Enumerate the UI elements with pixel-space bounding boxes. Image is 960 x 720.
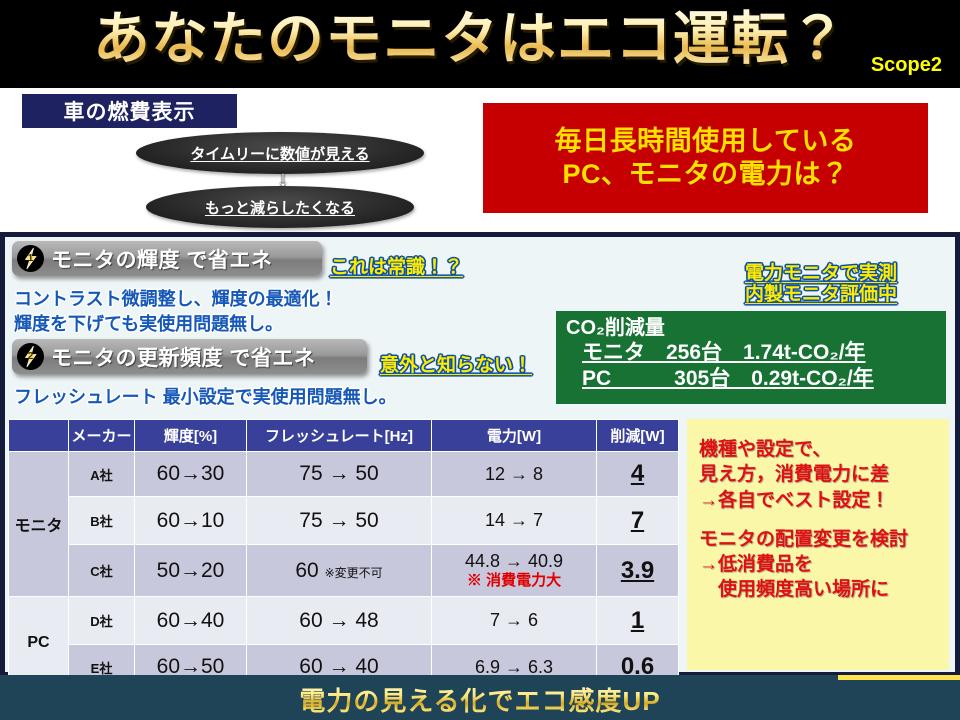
cell-refresh-note: ※変更不可 xyxy=(325,566,383,580)
footer-text: 電力の見える化でエコ感度UP xyxy=(0,680,960,718)
cell-cut: 4 xyxy=(597,452,679,497)
lightning-bolt-icon-1: 1 xyxy=(17,245,44,272)
table-header-row: メーカー 輝度[%] フレッシュレート[Hz] 電力[W] 削減[W] xyxy=(9,420,679,452)
tip-body-1-line-1: コントラスト微調整し、輝度の最適化！ xyxy=(14,285,338,311)
cell-maker: A社 xyxy=(69,452,135,497)
cell-refresh: 75 → 50 xyxy=(247,452,432,497)
title-band: あなたのモニタはエコ運転？ あなたのモニタはエコ運転？ Scope2 xyxy=(0,0,960,88)
co2-box-title: CO₂削減量 xyxy=(566,316,946,340)
tip-banner-brightness-label: モニタの輝度 で省エネ xyxy=(51,244,272,274)
red-box-line-2: PC、モニタの電力は？ xyxy=(562,158,848,191)
cell-power: 44.8 → 40.9※ 消費電力大 xyxy=(432,545,597,597)
table-header-category xyxy=(9,420,69,452)
red-box-line-1: 毎日長時間使用している xyxy=(555,125,857,158)
ellipse-timely-value-label: タイムリーに数値が見える xyxy=(190,143,369,164)
cell-cut: 7 xyxy=(597,497,679,545)
table-row: PC D社 60→40 60 → 48 7 → 6 1 xyxy=(9,597,679,645)
tip-banner-brightness: 1 モニタの輝度 で省エネ xyxy=(12,241,322,276)
cell-power: 7 → 6 xyxy=(432,597,597,645)
conclusion-line-4: モニタの配置変更を検討 xyxy=(699,527,949,552)
table-header-power: 電力[W] xyxy=(432,420,597,452)
table-header-maker: メーカー xyxy=(69,420,135,452)
car-fuel-label: 車の燃費表示 xyxy=(22,94,237,128)
cell-cut: 3.9 xyxy=(597,545,679,597)
cell-refresh: 75 → 50 xyxy=(247,497,432,545)
tip-body-1-line-2: 輝度を下げても実使用問題無し。 xyxy=(14,310,283,336)
scope-tag: Scope2 xyxy=(871,54,942,77)
lightning-bolt-icon-2: 2 xyxy=(17,343,44,370)
cell-brightness: 60→10 xyxy=(135,497,247,545)
cell-maker: D社 xyxy=(69,597,135,645)
tip-banner-refresh-rate-label: モニタの更新頻度 で省エネ xyxy=(51,342,315,372)
cell-refresh-value: 60 xyxy=(295,559,318,582)
co2-row-monitor: モニタ 256台 1.74t-CO₂/年 xyxy=(582,340,946,366)
cell-brightness: 60→40 xyxy=(135,597,247,645)
callout-not-known: 意外と知らない！ xyxy=(380,350,532,377)
ellipse-want-reduce-label: もっと減らしたくなる xyxy=(205,197,355,218)
conclusion-box: 機種や設定で、 見え方，消費電力に差 →各自でベスト設定！ モニタの配置変更を検… xyxy=(687,419,949,670)
panel-edge-right xyxy=(955,232,960,675)
conclusion-line-3: →各自でベスト設定！ xyxy=(699,488,949,513)
co2-row-pc: PC 305台 0.29t-CO₂/年 xyxy=(582,366,946,392)
co2-reduction-box: CO₂削減量 モニタ 256台 1.74t-CO₂/年 PC 305台 0.29… xyxy=(556,311,946,404)
bolt-badge-number-2: 2 xyxy=(17,343,44,370)
callout-common-sense: これは常識！？ xyxy=(330,252,463,279)
page-title: あなたのモニタはエコ運転？ xyxy=(90,2,850,76)
slide-root: あなたのモニタはエコ運転？ あなたのモニタはエコ運転？ Scope2 車の燃費表… xyxy=(0,0,960,720)
conclusion-line-1: 機種や設定で、 xyxy=(699,437,949,462)
tip-body-2-line-1: フレッシュレート 最小設定で実使用問題無し。 xyxy=(14,383,397,409)
power-comparison-table: メーカー 輝度[%] フレッシュレート[Hz] 電力[W] 削減[W] モニタ … xyxy=(8,419,679,690)
table-header-refresh: フレッシュレート[Hz] xyxy=(247,420,432,452)
table-row: B社 60→10 75 → 50 14 → 7 7 xyxy=(9,497,679,545)
cell-power-value: 44.8 → 40.9 xyxy=(465,551,563,571)
tip-banner-refresh-rate: 2 モニタの更新頻度 で省エネ xyxy=(12,339,367,374)
conclusion-line-2: 見え方，消費電力に差 xyxy=(699,462,949,487)
cell-maker: B社 xyxy=(69,497,135,545)
cell-maker: C社 xyxy=(69,545,135,597)
table-row: モニタ A社 60→30 75 → 50 12 → 8 4 xyxy=(9,452,679,497)
cell-refresh: 60 → 48 xyxy=(247,597,432,645)
cell-cut: 1 xyxy=(597,597,679,645)
cell-power: 12 → 8 xyxy=(432,452,597,497)
cell-refresh: 60 ※変更不可 xyxy=(247,545,432,597)
cell-power: 14 → 7 xyxy=(432,497,597,545)
conclusion-line-6: 使用頻度高い場所に xyxy=(699,577,949,602)
bolt-badge-number-1: 1 xyxy=(17,245,44,272)
cell-power-warning: ※ 消費電力大 xyxy=(433,572,595,591)
table-header-cut: 削減[W] xyxy=(597,420,679,452)
ellipse-want-reduce: もっと減らしたくなる xyxy=(146,186,414,228)
cell-brightness: 50→20 xyxy=(135,545,247,597)
cell-brightness: 60→30 xyxy=(135,452,247,497)
measure-note-line-2: 内製モニタ評価中 xyxy=(745,279,897,306)
group-label-monitor: モニタ xyxy=(9,452,69,597)
conclusion-line-5: →低消費品を xyxy=(699,552,949,577)
red-question-box: 毎日長時間使用している PC、モニタの電力は？ xyxy=(483,103,928,213)
panel-edge-left xyxy=(0,232,5,675)
table-header-brightness: 輝度[%] xyxy=(135,420,247,452)
table-row: C社 50→20 60 ※変更不可 44.8 → 40.9※ 消費電力大 3.9 xyxy=(9,545,679,597)
conclusion-spacer xyxy=(699,513,949,527)
